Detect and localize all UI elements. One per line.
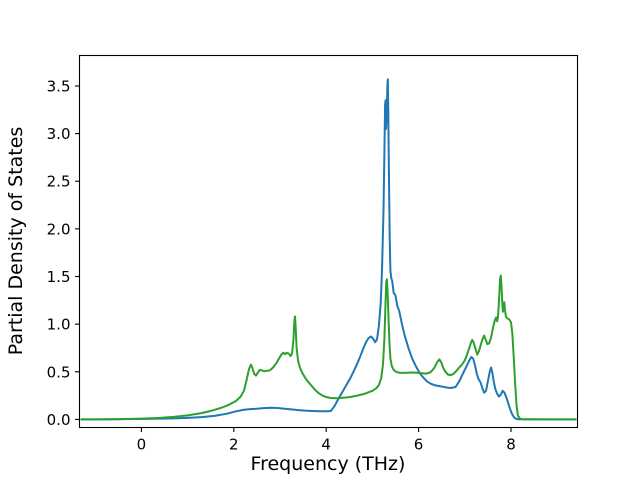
x-axis-title: Frequency (THz): [251, 453, 406, 475]
y-tick-label: 2.5: [47, 173, 71, 191]
series-line-series-green: [81, 276, 575, 420]
series-line-series-blue: [81, 79, 575, 419]
y-tick-label: 1.5: [47, 268, 71, 286]
x-tick-label: 2: [229, 436, 239, 454]
y-tick-label: 3.0: [47, 125, 71, 143]
x-tick-label: 8: [506, 436, 516, 454]
axes-frame: [80, 56, 578, 428]
y-axis-title: Partial Density of States: [5, 127, 27, 356]
y-tick-label: 1.0: [47, 316, 71, 334]
x-axis-ticks: 02468: [137, 428, 516, 454]
y-tick-label: 2.0: [47, 220, 71, 238]
x-tick-label: 0: [137, 436, 147, 454]
x-tick-label: 6: [414, 436, 424, 454]
y-tick-label: 3.5: [47, 77, 71, 95]
data-series-group: [81, 79, 575, 419]
dos-line-chart: 02468 0.00.51.01.52.02.53.03.5 Frequency…: [0, 0, 640, 480]
y-tick-label: 0.0: [47, 411, 71, 429]
y-axis-ticks: 0.00.51.01.52.02.53.03.5: [47, 77, 80, 428]
y-tick-label: 0.5: [47, 363, 71, 381]
x-tick-label: 4: [321, 436, 331, 454]
figure-canvas: 02468 0.00.51.01.52.02.53.03.5 Frequency…: [0, 0, 640, 480]
